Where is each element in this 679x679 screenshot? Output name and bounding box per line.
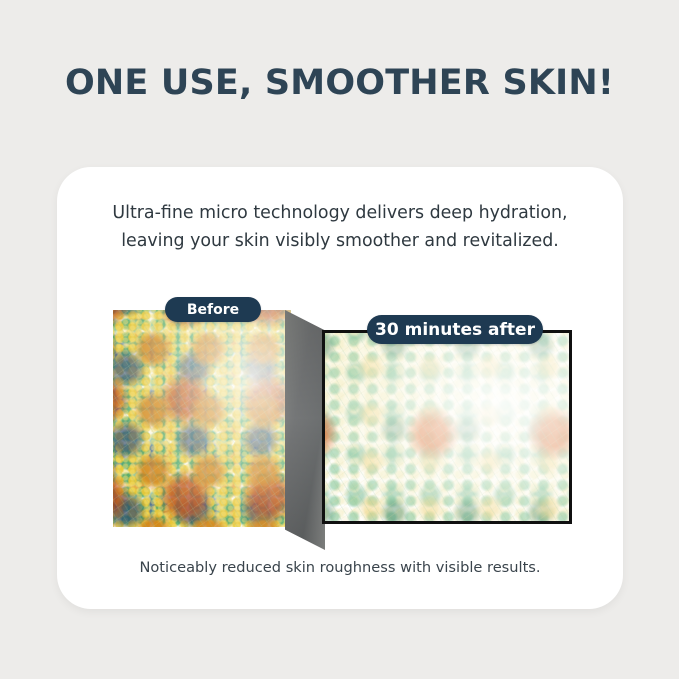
- content-card: Ultra-fine micro technology delivers dee…: [57, 167, 623, 609]
- after-image-panel: [325, 333, 569, 521]
- after-image-frame: [322, 330, 572, 524]
- page-title: ONE USE, SMOOTHER SKIN!: [0, 63, 679, 103]
- intro-text: Ultra-fine micro technology delivers dee…: [57, 199, 623, 255]
- slab-side-wall: [285, 310, 325, 550]
- badge-before: Before: [165, 297, 261, 322]
- before-image-panel: [113, 310, 291, 527]
- badge-after: 30 minutes after: [367, 315, 543, 344]
- after-texture-highlight: [325, 333, 569, 521]
- before-after-comparison: Before 30 minutes after: [57, 279, 623, 537]
- result-caption: Noticeably reduced skin roughness with v…: [57, 559, 623, 576]
- intro-line-2: leaving your skin visibly smoother and r…: [57, 227, 623, 255]
- intro-line-1: Ultra-fine micro technology delivers dee…: [57, 199, 623, 227]
- before-texture-highlight: [113, 310, 291, 527]
